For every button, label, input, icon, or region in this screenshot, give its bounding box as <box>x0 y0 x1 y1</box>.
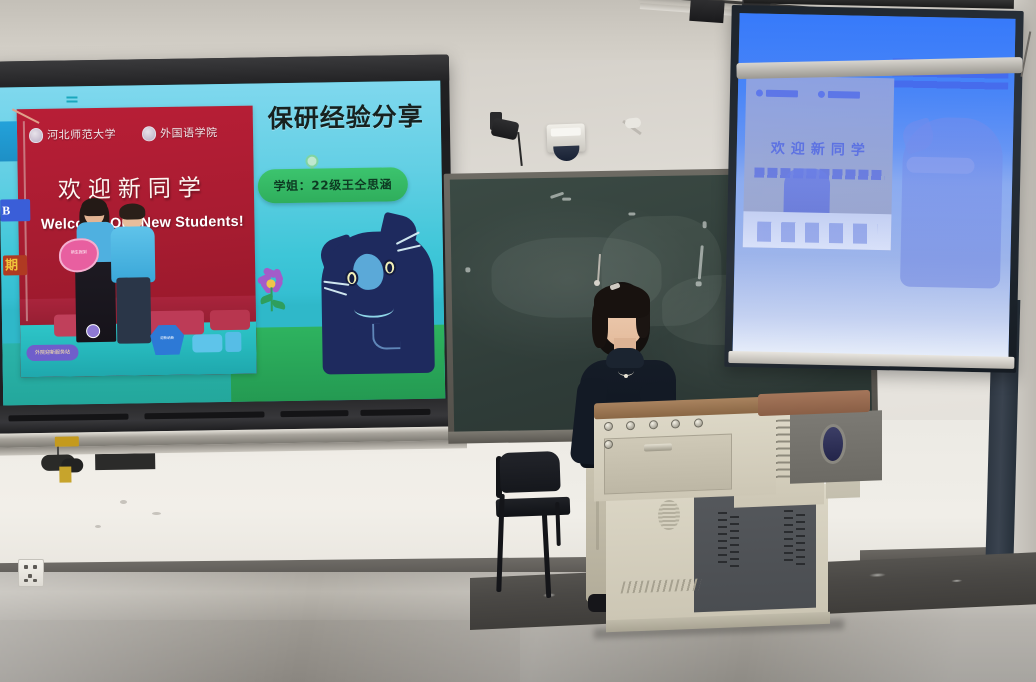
chair-leg <box>542 510 552 598</box>
presenter-hair-top <box>594 284 650 318</box>
chalk-mark <box>562 198 571 201</box>
wall-scuff <box>152 512 161 515</box>
slide-left-badge-cn: 期 <box>3 255 27 275</box>
slide-left-overlay-strip <box>0 121 17 161</box>
slide-title: 保研经验分享 <box>257 97 436 136</box>
smartboard-port-slot[interactable] <box>360 409 430 416</box>
multimedia-lectern[interactable] <box>594 392 866 637</box>
university-crest-icon <box>29 127 43 142</box>
badge-cn-text: 期 <box>3 257 18 272</box>
badge-knob-icon <box>305 155 318 168</box>
cat-illustration <box>296 207 441 375</box>
flower-leaf <box>271 299 286 309</box>
photo-prop-banner: 外院迎新服务站 <box>26 344 78 361</box>
rail-clip <box>55 436 79 446</box>
banner-logo-row: 河北师范大学 外国语学院 <box>29 124 218 143</box>
slide-corner-icon <box>66 96 77 104</box>
interactive-smartboard[interactable]: 河北师范大学 外国语学院 欢迎新同学 Welcome Our New Stude… <box>0 54 465 461</box>
cabinet-vent <box>730 516 739 568</box>
slide-canvas: 河北师范大学 外国语学院 欢迎新同学 Welcome Our New Stude… <box>0 81 445 406</box>
photo-person-right <box>110 207 156 344</box>
banner-headline-cn: 欢迎新同学 <box>58 168 209 204</box>
outlet-slot <box>28 574 32 578</box>
cat-pupil <box>349 274 354 283</box>
photo-prop-sofa <box>210 310 250 331</box>
smartboard-port-slot[interactable] <box>280 410 348 417</box>
flower-illustration <box>257 269 288 303</box>
university-logo-text: 河北师范大学 <box>47 126 116 143</box>
speaker-badge-text: 学姐：22级王仝思涵 <box>258 167 409 203</box>
classroom-scene: 河北师范大学 外国语学院 欢迎新同学 Welcome Our New Stude… <box>0 0 1036 682</box>
chalk-mark <box>696 281 702 286</box>
outlet-slot <box>33 579 37 582</box>
outlet-slot <box>33 565 37 569</box>
college-logo-text: 外国语学院 <box>160 124 218 141</box>
slide-left-badge-b: B <box>0 199 30 221</box>
photo-prop-banner-text: 外院迎新服务站 <box>26 344 78 361</box>
outlet-slot <box>24 579 28 582</box>
photo-prop-badge-round <box>86 324 100 338</box>
shirt <box>110 226 155 283</box>
smartboard-port-slot[interactable] <box>8 414 128 422</box>
control-knob[interactable] <box>604 422 613 431</box>
cat-pupil <box>387 263 392 272</box>
upper-wall-shading <box>0 0 740 60</box>
control-knob[interactable] <box>649 420 658 429</box>
chair-backrest <box>499 451 560 493</box>
smartboard-port-slot[interactable] <box>144 411 264 419</box>
college-crest-icon <box>142 126 156 141</box>
projection-screen[interactable]: 欢迎新同学 <box>722 0 1030 377</box>
drawer-handle[interactable] <box>644 443 672 451</box>
pants <box>116 277 151 344</box>
power-outlet[interactable] <box>18 559 44 587</box>
outlet-slot <box>24 565 28 569</box>
control-knob[interactable] <box>671 419 680 428</box>
photo-prop-card <box>225 332 241 352</box>
cat-chest-line <box>372 323 400 349</box>
speaker-badge: 学姐：22级王仝思涵 <box>258 167 409 203</box>
dome-camera-band <box>551 127 581 136</box>
photo-prop-sign-text: 新生报到 <box>59 238 99 256</box>
cabinet-vent <box>718 512 727 564</box>
rail-tag <box>59 466 71 482</box>
chalk-mark <box>465 267 470 272</box>
wall-speaker-icon <box>689 0 724 23</box>
slide-group-photo: 河北师范大学 外国语学院 欢迎新同学 Welcome Our New Stude… <box>17 106 257 378</box>
hair <box>119 203 145 219</box>
photo-prop-card <box>192 334 222 352</box>
control-knob[interactable] <box>694 418 703 427</box>
wall-scuff <box>120 500 127 504</box>
cat-paw <box>332 328 362 354</box>
dome-camera-icon <box>547 123 586 152</box>
wall-scuff <box>95 525 101 528</box>
chalk-mark <box>703 221 707 228</box>
smartboard-screen[interactable]: 河北师范大学 外国语学院 欢迎新同学 Welcome Our New Stude… <box>0 81 445 406</box>
badge-b-text: B <box>0 203 10 217</box>
necklace-pendant <box>624 374 628 378</box>
control-knob[interactable] <box>626 421 635 430</box>
hair <box>81 198 107 216</box>
chalk-mark <box>628 212 635 215</box>
lectern-wood-top-right <box>758 390 870 416</box>
cabinet-vent <box>784 510 793 562</box>
cabinet-vent <box>796 514 805 566</box>
smartboard-underhang <box>95 453 155 470</box>
presenter-turtleneck-collar <box>606 348 644 368</box>
control-knob[interactable] <box>604 440 613 449</box>
